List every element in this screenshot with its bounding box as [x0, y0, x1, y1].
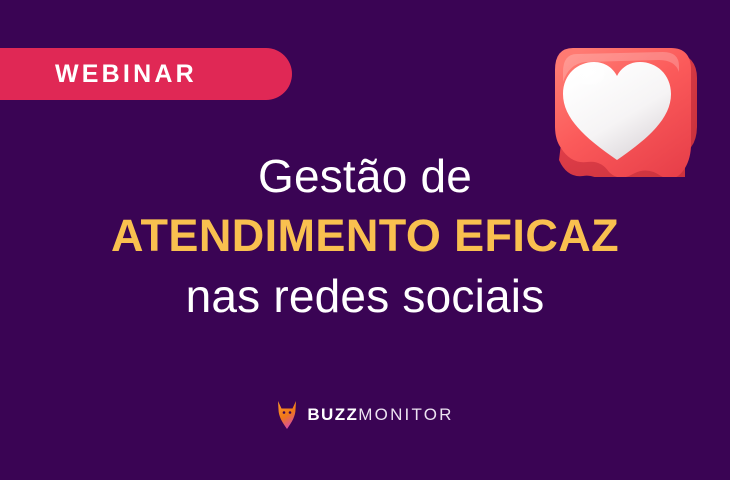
brand-logo: BUZZMONITOR: [0, 400, 730, 430]
logo-wordmark: BUZZMONITOR: [307, 404, 453, 426]
headline-line-2: ATENDIMENTO EFICAZ: [0, 204, 730, 268]
headline-line-3: nas redes sociais: [0, 268, 730, 324]
webinar-badge: WEBINAR: [0, 48, 292, 100]
logo-text-monitor: MONITOR: [358, 405, 453, 424]
logo-text-buzz: BUZZ: [307, 405, 358, 424]
webinar-promo-banner: WEBINAR: [0, 0, 730, 480]
buzzmonitor-bee-icon: [276, 400, 298, 430]
webinar-badge-label: WEBINAR: [55, 48, 197, 100]
headline-block: Gestão de ATENDIMENTO EFICAZ nas redes s…: [0, 148, 730, 324]
headline-line-1: Gestão de: [0, 148, 730, 204]
